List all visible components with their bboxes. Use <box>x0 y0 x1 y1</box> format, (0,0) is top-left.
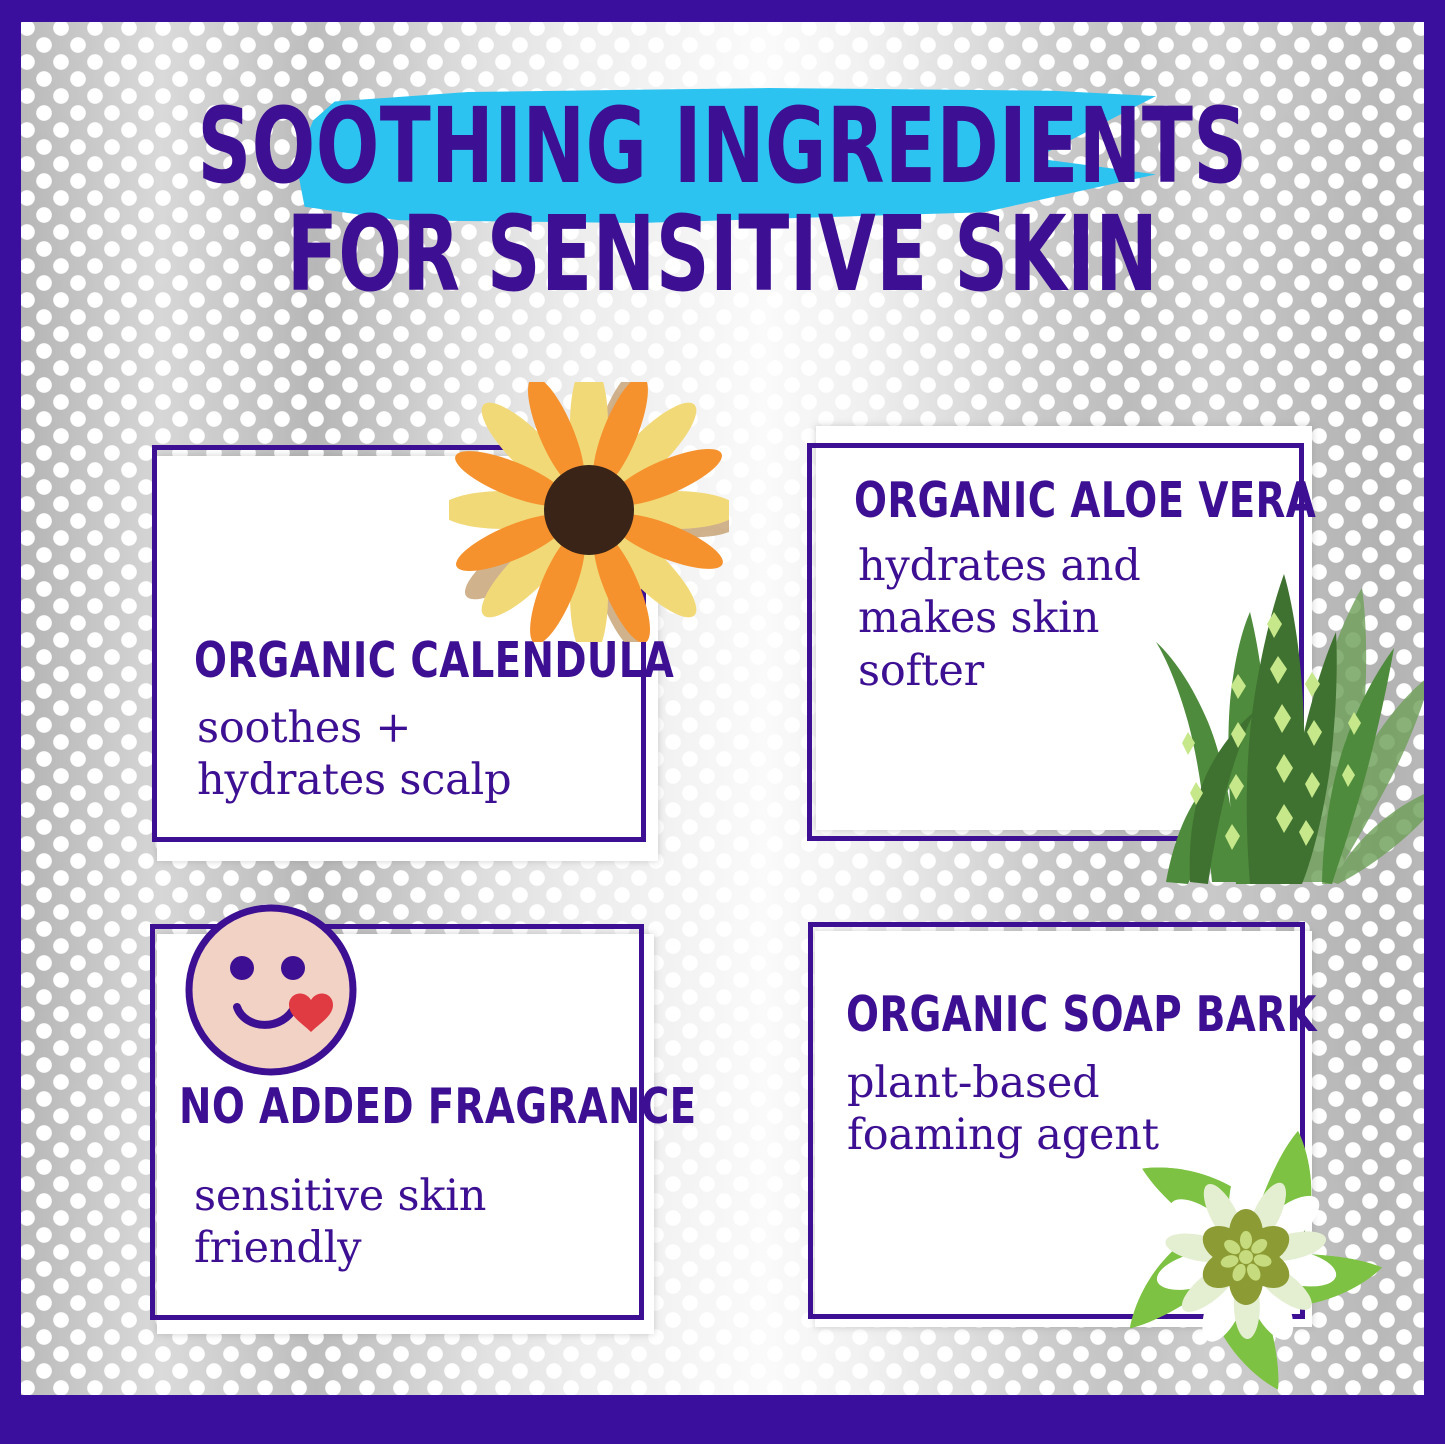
card-heading: ORGANIC ALOE VERA <box>854 475 1316 527</box>
card-body: soothes + hydrates scalp <box>197 702 511 807</box>
card-body-line: makes skin <box>858 592 1141 644</box>
card-body-line: friendly <box>194 1222 486 1274</box>
title-line-1: SOOTHING INGREDIENTS <box>161 80 1283 198</box>
card-no-added-fragrance: NO ADDED FRAGRANCE sensitive skin friend… <box>139 912 659 1337</box>
card-body-line: foaming agent <box>847 1109 1159 1161</box>
card-heading: ORGANIC SOAP BARK <box>846 989 1317 1041</box>
card-heading: ORGANIC CALENDULA <box>194 635 674 687</box>
title-line1-wrapper: SOOTHING INGREDIENTS <box>21 80 1424 198</box>
card-organic-calendula: ORGANIC CALENDULA soothes + hydrates sca… <box>139 437 659 862</box>
card-body-line: sensitive skin <box>194 1170 486 1222</box>
card-body-line: soothes + <box>197 702 511 754</box>
card-body-line: hydrates scalp <box>197 754 511 806</box>
title-line-2: FOR SENSITIVE SKIN <box>161 202 1283 306</box>
dotted-background: SOOTHING INGREDIENTS FOR SENSITIVE SKIN … <box>21 22 1424 1395</box>
poster-title: SOOTHING INGREDIENTS FOR SENSITIVE SKIN <box>21 80 1424 306</box>
card-body-line: plant-based <box>847 1057 1159 1109</box>
card-organic-aloe-vera: ORGANIC ALOE VERA hydrates and makes ski… <box>801 420 1321 845</box>
card-body: hydrates and makes skin softer <box>858 540 1141 697</box>
card-heading: NO ADDED FRAGRANCE <box>179 1081 697 1133</box>
card-organic-soap-bark: ORGANIC SOAP BARK plant-based foaming ag… <box>801 917 1321 1337</box>
card-body: plant-based foaming agent <box>847 1057 1159 1162</box>
card-body-line: hydrates and <box>858 540 1141 592</box>
card-body: sensitive skin friendly <box>194 1170 486 1275</box>
card-body-line: softer <box>858 645 1141 697</box>
infographic-poster: SOOTHING INGREDIENTS FOR SENSITIVE SKIN … <box>0 0 1445 1444</box>
